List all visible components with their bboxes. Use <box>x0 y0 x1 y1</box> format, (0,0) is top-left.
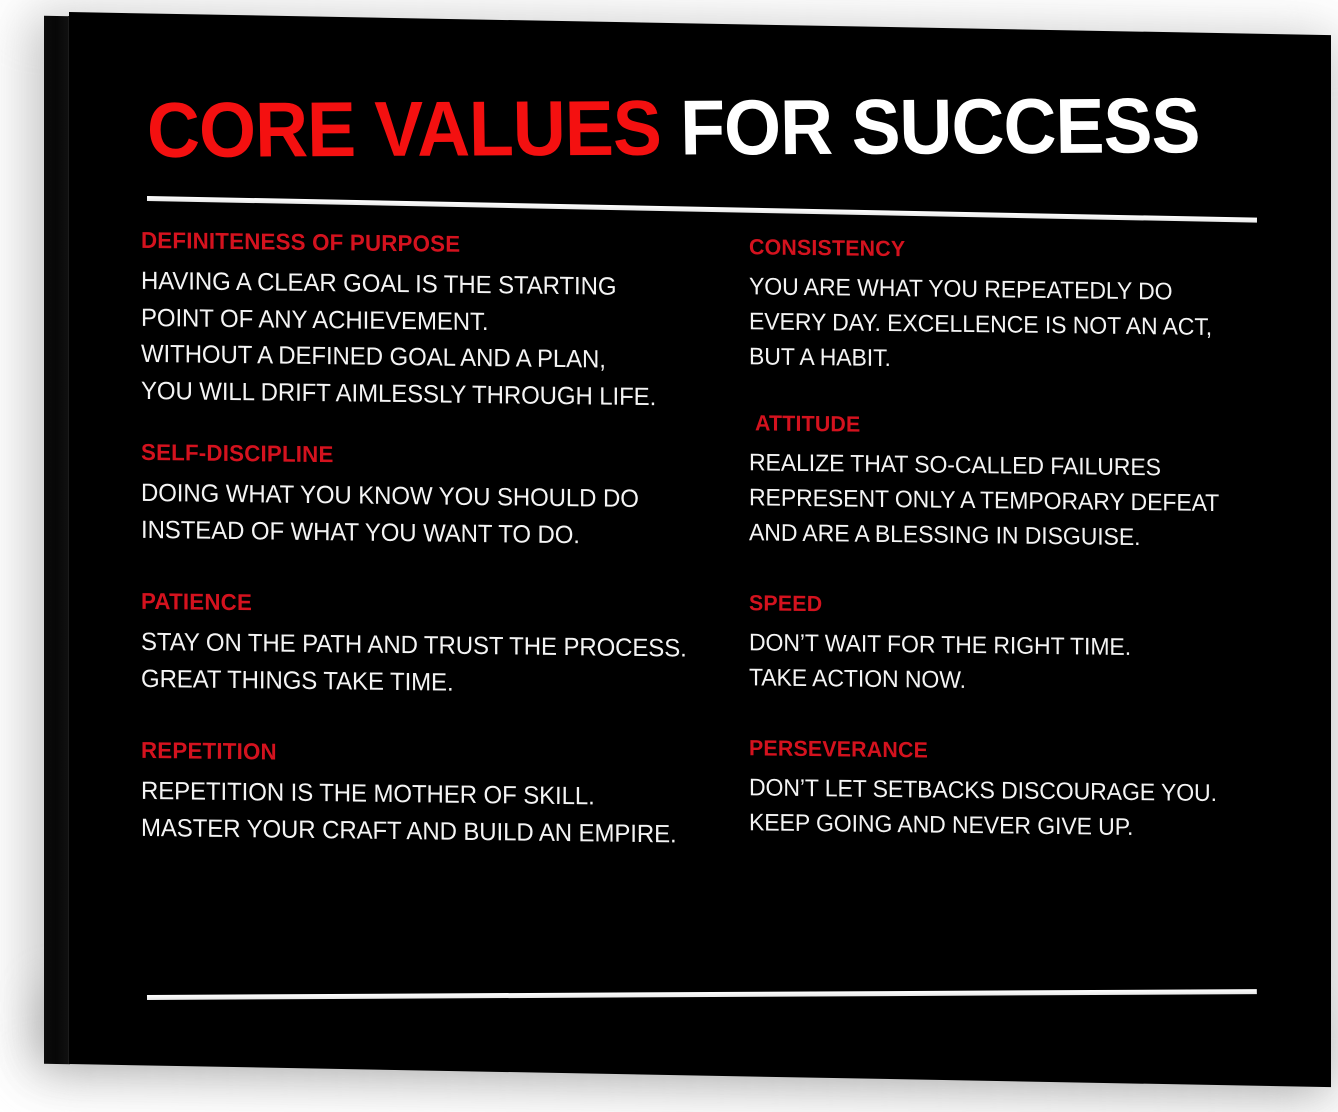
value-heading: CONSISTENCY <box>749 234 1205 266</box>
divider-rule-bottom <box>147 989 1257 1000</box>
value-block-attitude: ATTITUDE REALIZE THAT SO-CALLED FAILURES… <box>749 410 1219 556</box>
values-column-left: DEFINITENESS OF PURPOSE HAVING A CLEAR G… <box>141 227 701 853</box>
values-column-right: CONSISTENCY YOU ARE WHAT YOU REPEATEDLY … <box>749 234 1219 859</box>
value-line: REPRESENT ONLY A TEMPORARY DEFEAT <box>749 480 1200 521</box>
value-block-perseverance: PERSEVERANCE DON’T LET SETBACKS DISCOURA… <box>749 736 1219 847</box>
value-heading: PATIENCE <box>141 588 684 622</box>
value-block-patience: PATIENCE STAY ON THE PATH AND TRUST THE … <box>141 588 701 704</box>
value-body: STAY ON THE PATH AND TRUST THE PROCESS. … <box>141 624 701 704</box>
value-body: REPETITION IS THE MOTHER OF SKILL. MASTE… <box>141 773 701 853</box>
value-line: AND ARE A BLESSING IN DISGUISE. <box>749 515 1200 556</box>
value-line: GREAT THINGS TAKE TIME. <box>141 660 679 703</box>
value-heading: REPETITION <box>141 737 684 771</box>
value-heading: SELF-DISCIPLINE <box>141 439 684 473</box>
value-body: DOING WHAT YOU KNOW YOU SHOULD DO INSTEA… <box>141 475 701 555</box>
value-line: YOU WILL DRIFT AIMLESSLY THROUGH LIFE. <box>141 372 679 415</box>
value-heading: SPEED <box>749 590 1205 622</box>
value-heading: PERSEVERANCE <box>749 736 1205 768</box>
value-block-speed: SPEED DON’T WAIT FOR THE RIGHT TIME. TAK… <box>749 590 1219 701</box>
value-block-self-discipline: SELF-DISCIPLINE DOING WHAT YOU KNOW YOU … <box>141 439 701 555</box>
value-heading: ATTITUDE <box>755 410 1205 441</box>
value-block-repetition: REPETITION REPETITION IS THE MOTHER OF S… <box>141 737 701 853</box>
value-body: REALIZE THAT SO-CALLED FAILURES REPRESEN… <box>749 445 1219 556</box>
canvas-print-face: CORE VALUES FOR SUCCESS DEFINITENESS OF … <box>69 12 1331 1087</box>
canvas-wrapped-side-edge <box>44 16 70 1064</box>
title-red-text: CORE VALUES <box>146 84 661 174</box>
value-line: MASTER YOUR CRAFT AND BUILD AN EMPIRE. <box>141 809 679 852</box>
value-heading: DEFINITENESS OF PURPOSE <box>141 227 684 261</box>
value-line: EVERY DAY. EXCELLENCE IS NOT AN ACT, <box>749 304 1200 345</box>
value-line: YOU ARE WHAT YOU REPEATEDLY DO <box>749 269 1200 310</box>
poster-title: CORE VALUES FOR SUCCESS <box>146 86 1162 169</box>
value-line: INSTEAD OF WHAT YOU WANT TO DO. <box>141 511 679 554</box>
value-body: HAVING A CLEAR GOAL IS THE STARTING POIN… <box>141 263 701 416</box>
value-line: TAKE ACTION NOW. <box>749 661 1200 702</box>
value-line: KEEP GOING AND NEVER GIVE UP. <box>749 806 1200 847</box>
value-body: DON’T LET SETBACKS DISCOURAGE YOU. KEEP … <box>749 771 1219 847</box>
title-white-text: FOR SUCCESS <box>660 81 1200 171</box>
value-block-consistency: CONSISTENCY YOU ARE WHAT YOU REPEATEDLY … <box>749 234 1219 380</box>
value-line: DON’T LET SETBACKS DISCOURAGE YOU. <box>749 771 1200 812</box>
value-line: DON’T WAIT FOR THE RIGHT TIME. <box>749 625 1200 666</box>
value-line: BUT A HABIT. <box>749 339 1200 380</box>
values-columns: DEFINITENESS OF PURPOSE HAVING A CLEAR G… <box>69 226 1331 860</box>
value-body: DON’T WAIT FOR THE RIGHT TIME. TAKE ACTI… <box>749 625 1219 701</box>
value-block-definiteness-of-purpose: DEFINITENESS OF PURPOSE HAVING A CLEAR G… <box>141 227 701 416</box>
artwork-stage: CORE VALUES FOR SUCCESS DEFINITENESS OF … <box>0 0 1338 1112</box>
value-line: REALIZE THAT SO-CALLED FAILURES <box>749 445 1200 486</box>
divider-rule-top <box>147 196 1257 223</box>
value-body: YOU ARE WHAT YOU REPEATEDLY DO EVERY DAY… <box>749 269 1219 380</box>
